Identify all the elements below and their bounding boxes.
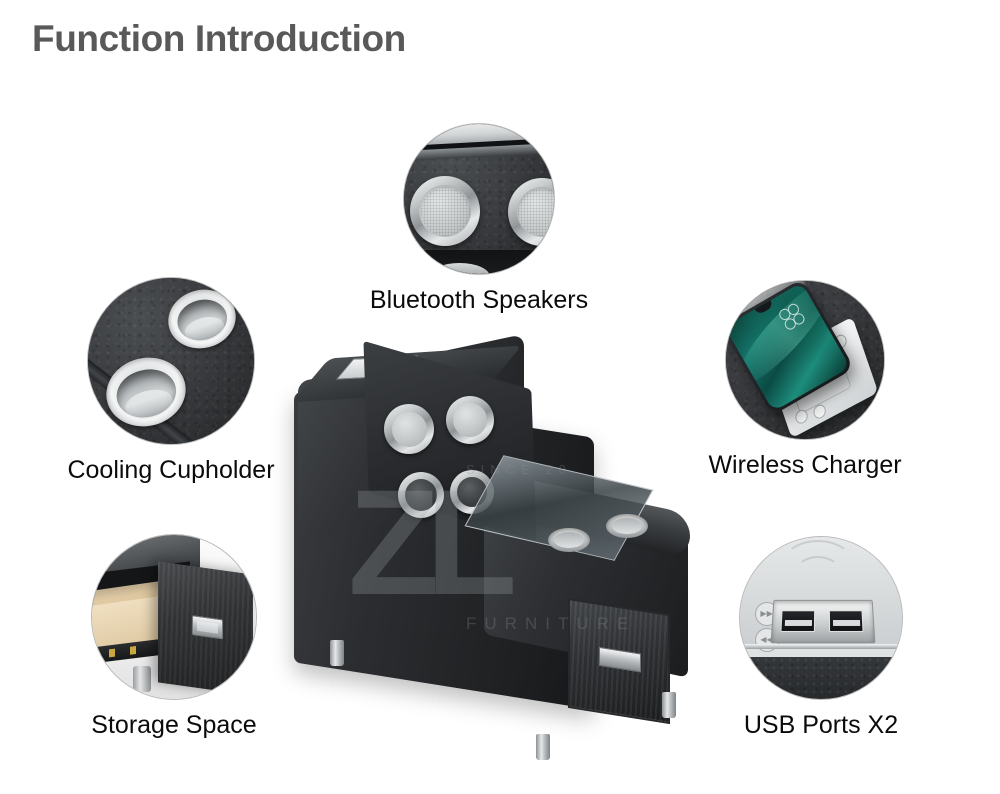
drawer-icon: [568, 598, 670, 724]
phone-widget-icon: [778, 301, 811, 335]
product-photo: SINCE 20 ZL FURNITURE: [288, 352, 698, 776]
panel-edge: [740, 644, 902, 649]
rail-shadow-line: [406, 138, 554, 151]
bluetooth-speakers-photo: [404, 124, 554, 274]
drawer-handle-icon: [192, 614, 223, 638]
cup-icon: [606, 514, 648, 538]
feature-usb-ports: ⚡ ▶▶ ◀◀ USB Ports X2: [740, 537, 902, 699]
speaker-icon: [410, 176, 480, 246]
usb-icon: [771, 599, 876, 642]
cup-icon: [548, 528, 590, 552]
storage-space-photo: [92, 535, 256, 699]
feature-label-cooling-cupholder: Cooling Cupholder: [67, 456, 274, 485]
leather-texture: [740, 657, 902, 699]
furniture-leg: [133, 666, 151, 692]
base-shadow: [404, 250, 554, 274]
chrome-accent: [429, 263, 490, 274]
usb-ports-photo: ⚡ ▶▶ ◀◀: [740, 537, 902, 699]
cooling-cupholder-photo: [88, 278, 254, 444]
feature-label-usb-ports: USB Ports X2: [744, 711, 898, 740]
furniture-leg: [662, 692, 676, 718]
feature-cooling-cupholder: Cooling Cupholder: [88, 278, 254, 444]
usb-port-2: [830, 610, 865, 632]
wireless-charging-icon: [766, 540, 870, 585]
furniture-leg: [330, 640, 344, 666]
furniture-leg: [536, 734, 550, 760]
wireless-charger-photo: [726, 281, 884, 439]
page-title: Function Introduction: [32, 18, 406, 60]
feature-storage-space: Storage Space: [92, 535, 256, 699]
feature-label-wireless-charger: Wireless Charger: [708, 451, 901, 480]
drawer-front-panel: [158, 561, 253, 696]
speaker-icon: [384, 404, 434, 454]
phone-notch-icon: [755, 300, 774, 315]
speaker-icon: [446, 396, 494, 444]
feature-label-bluetooth-speakers: Bluetooth Speakers: [370, 286, 588, 315]
speaker-icon: [398, 472, 444, 518]
feature-bluetooth-speakers: Bluetooth Speakers: [404, 124, 554, 274]
drawer-handle-icon: [599, 647, 640, 672]
feature-label-storage-space: Storage Space: [91, 711, 256, 740]
usb-port-1: [781, 610, 816, 632]
feature-wireless-charger: Wireless Charger: [726, 281, 884, 439]
